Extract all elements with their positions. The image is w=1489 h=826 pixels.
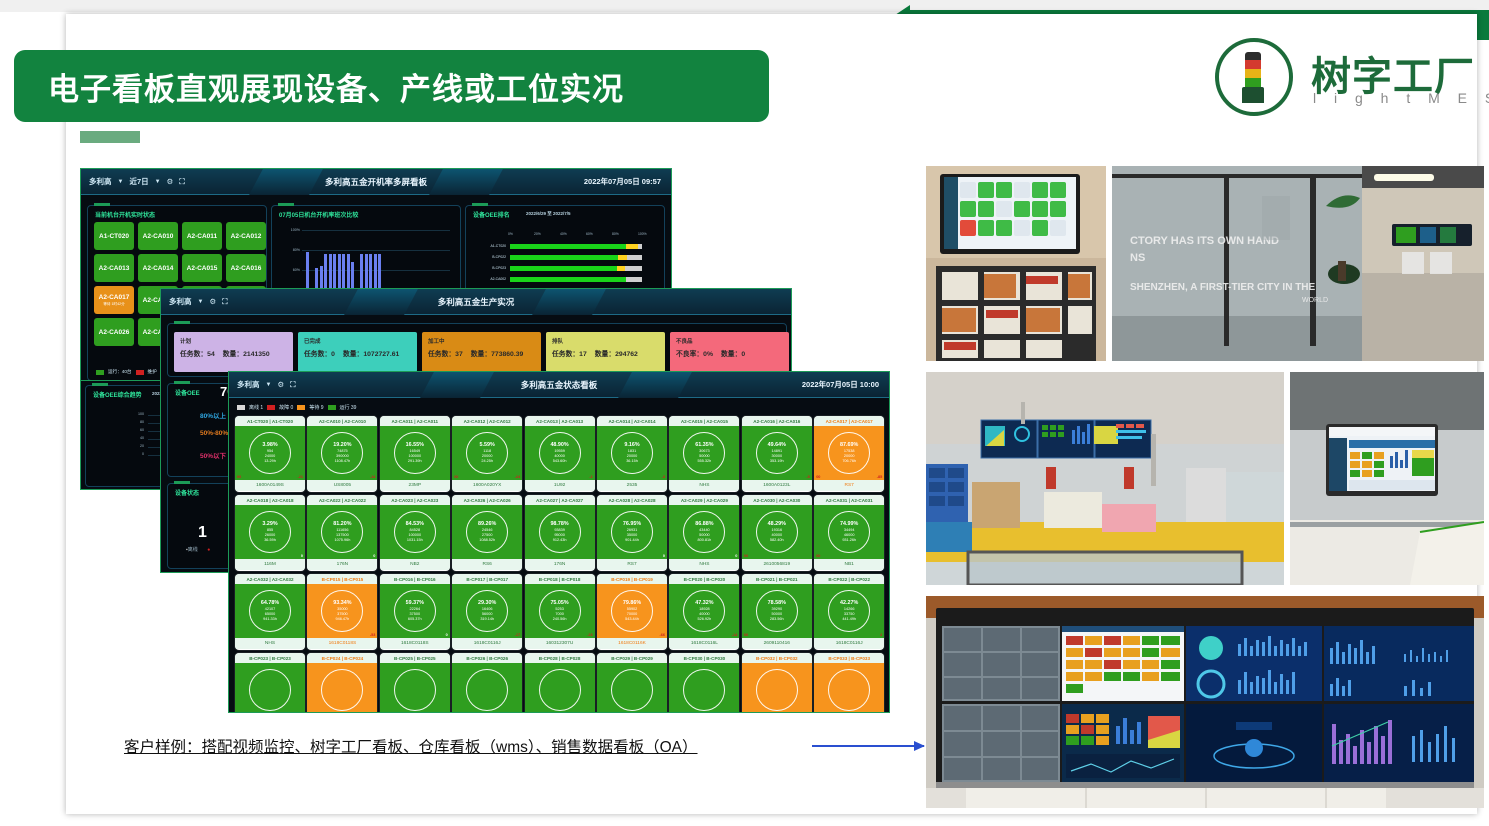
chevron-down-icon[interactable]: ▼ bbox=[118, 179, 124, 185]
status-card-badge-left: 00 bbox=[816, 475, 820, 479]
machine-tile[interactable]: A2-CA015 bbox=[182, 254, 222, 282]
status-card-header: B-CP021 | B-CP021 bbox=[742, 574, 812, 584]
status-card-percent: 48.90% bbox=[550, 442, 568, 449]
status-card-body bbox=[307, 663, 377, 713]
progress-ring: 76.95% 26931 35000 901.44h bbox=[611, 511, 653, 553]
y-tick-label: 40 bbox=[130, 436, 144, 440]
status-card[interactable]: A1-CT020 | A1-CT020 3.98% 954 24000 13.2… bbox=[235, 416, 305, 492]
status-card[interactable]: B-CP032 | B-CP032 bbox=[742, 653, 812, 713]
machine-tile[interactable]: A2-CA013 bbox=[94, 254, 134, 282]
status-card-badge-right: -17 bbox=[515, 633, 521, 637]
status-card[interactable]: A2-CA012 | A2-CA012 5.59% 1118 20000 24.… bbox=[452, 416, 522, 492]
photo-office-wall-display bbox=[926, 166, 1106, 361]
status-card-header: A2-CA014 | A2-CA014 bbox=[597, 416, 667, 426]
machine-tile[interactable]: A2-CA016 bbox=[226, 254, 266, 282]
status-card-body bbox=[235, 663, 305, 713]
status-card-body bbox=[669, 663, 739, 713]
status-card-body: 86.88% 43440 50000 800.81h 0 bbox=[669, 505, 739, 559]
ranking-row-label: A1-CT020 bbox=[468, 244, 506, 248]
status-card-percent: 84.53% bbox=[406, 521, 424, 528]
status-card-badge-right: -85 bbox=[877, 475, 883, 479]
caption-arrow-icon bbox=[812, 745, 924, 747]
status-card-body: 76.95% 26931 35000 901.44h 0 bbox=[597, 505, 667, 559]
ranking-row-bar bbox=[510, 266, 642, 271]
status-card-percent: 61.35% bbox=[695, 442, 713, 449]
dashboard-header: 多利高 ▼ ⚙ ⛶ 多利高五金生产实况 bbox=[161, 289, 791, 315]
svg-text:CTORY HAS ITS OWN HAND: CTORY HAS ITS OWN HAND bbox=[1130, 235, 1279, 247]
ranking-bar-green bbox=[510, 255, 618, 260]
slide-root: 电子看板直观展现设备、产线或工位实况 树字工厂 l i g h t M E S … bbox=[0, 0, 1489, 826]
status-card-body: 79.86% 55902 70000 543.44h -66 bbox=[597, 584, 667, 638]
status-card-hours: 582.40h bbox=[770, 538, 784, 543]
status-card-badge-right: -66 bbox=[660, 633, 666, 637]
gridline bbox=[302, 230, 450, 231]
status-card-header: A2-CA023 | A2-CA023 bbox=[380, 495, 450, 505]
status-card-header: B-CP033 | B-CP033 bbox=[814, 653, 884, 663]
kpi-line-2: 数量：773860.39 bbox=[471, 348, 524, 358]
progress-ring: 86.88% 43440 50000 800.81h bbox=[683, 511, 725, 553]
status-card[interactable]: B-CP017 | B-CP017 29.30% 16406 56000 319… bbox=[452, 574, 522, 650]
status-card[interactable]: B-CP029 | B-CP029 bbox=[597, 653, 667, 713]
axis-tick-label: 40% bbox=[560, 232, 567, 236]
status-card-hours: 441.49h bbox=[842, 617, 856, 622]
status-card[interactable]: A2-CA011 | A2-CA011 16.55% 16549 100000 … bbox=[380, 416, 450, 492]
status-card-percent: 93.34% bbox=[333, 600, 351, 607]
kpi-line-2: 数量：294762 bbox=[595, 348, 638, 358]
status-card-footer: 1600A0123L bbox=[742, 480, 812, 491]
kpi-line-1: 任务数：0 bbox=[304, 348, 335, 358]
status-card-percent: 59.37% bbox=[406, 600, 424, 607]
dashboard-datetime: 2022年07月05日 09:57 bbox=[584, 176, 671, 187]
gear-icon[interactable]: ⚙ bbox=[277, 380, 284, 389]
status-card-header: B-CP018 | B-CP018 bbox=[525, 574, 595, 584]
ranking-row-bar bbox=[510, 255, 642, 260]
status-card[interactable]: A2-CA013 | A2-CA013 48.90% 19559 40000 5… bbox=[525, 416, 595, 492]
status-card-header: B-CP016 | B-CP016 bbox=[380, 574, 450, 584]
status-card[interactable]: A2-CA010 | A2-CA010 19.20% 74875 390000 … bbox=[307, 416, 377, 492]
status-card-body: 48.90% 19559 40000 543.60h -2 bbox=[525, 426, 595, 480]
machine-tile[interactable]: A2-CA010 bbox=[138, 222, 178, 250]
status-card-hours: 555.32h bbox=[698, 459, 712, 464]
status-card-header: A2-CA010 | A2-CA010 bbox=[307, 416, 377, 426]
progress-ring: 3.98% 954 24000 13.29h bbox=[249, 432, 291, 474]
progress-ring: 59.37% 22264 37500 605.37h bbox=[394, 590, 436, 632]
status-card-badge-left: 00 bbox=[744, 554, 748, 558]
progress-ring: 19.20% 74875 390000 1108.47h bbox=[321, 432, 363, 474]
status-card-badge-left: 00 bbox=[454, 475, 458, 479]
status-card-hours: 901.44h bbox=[625, 538, 639, 543]
photo-workshop-wall-monitor bbox=[1290, 372, 1484, 585]
status-card[interactable]: A2-CA015 | A2-CA015 61.35% 30673 50000 5… bbox=[669, 416, 739, 492]
progress-ring bbox=[611, 669, 653, 711]
status-card-body: 84.53% 84528 100000 1031.15h bbox=[380, 505, 450, 559]
ranking-bar-yellow bbox=[626, 244, 638, 249]
brand-logo: 树字工厂 l i g h t M E S bbox=[1215, 38, 1465, 118]
status-card-header: B-CP029 | B-CP029 bbox=[597, 653, 667, 663]
panel-tick bbox=[174, 481, 190, 484]
status-card-hours: 13.29h bbox=[264, 459, 276, 464]
dashboard-datetime: 2022年07月05日 10:00 bbox=[802, 379, 889, 390]
status-card-footer: RS7 bbox=[597, 559, 667, 570]
progress-ring: 74.99% 34494 46000 931.26h bbox=[828, 511, 870, 553]
panel-tick bbox=[472, 203, 488, 206]
status-card-header: A2-CA028 | A2-CA028 bbox=[597, 495, 667, 505]
status-card[interactable]: B-CP018 | B-CP018 75.05% 5253 7000 240.5… bbox=[525, 574, 595, 650]
y-tick-label: 0 bbox=[130, 452, 144, 456]
fullscreen-icon[interactable]: ⛶ bbox=[179, 177, 184, 187]
status-card[interactable]: A2-CA014 | A2-CA014 9.16% 1831 20000 36.… bbox=[597, 416, 667, 492]
progress-ring bbox=[756, 669, 798, 711]
status-card[interactable]: A2-CA029 | A2-CA029 86.88% 43440 50000 8… bbox=[669, 495, 739, 571]
status-card[interactable]: B-CP030 | B-CP030 bbox=[669, 653, 739, 713]
status-legend: 离线 1 故障 0 等待 9 运行 39 bbox=[237, 404, 356, 411]
kpi-title: 不良品 bbox=[676, 337, 783, 345]
status-card-header: A2-CA026 | A2-CA026 bbox=[452, 495, 522, 505]
y-tick-label: 20 bbox=[130, 444, 144, 448]
progress-ring: 47.32% 18928 40000 526.92h bbox=[683, 590, 725, 632]
kpi-card[interactable]: 不良品 不良率：0%数量：0 bbox=[670, 332, 789, 372]
status-card-body bbox=[814, 663, 884, 713]
axis-tick-label: 80% bbox=[612, 232, 619, 236]
status-card[interactable]: B-CP015 | B-CP015 93.34% 35000 37500 946… bbox=[307, 574, 377, 650]
status-card-body: 29.30% 16406 56000 319.14h -17 bbox=[452, 584, 522, 638]
status-card-header: A2-CA018 | A2-CA018 bbox=[235, 495, 305, 505]
ranking-bar-green bbox=[510, 266, 617, 271]
progress-ring: 93.34% 35000 37500 946.47h bbox=[321, 590, 363, 632]
status-card-hours: 912.43h bbox=[553, 538, 567, 543]
status-card-header: B-CP032 | B-CP032 bbox=[742, 653, 812, 663]
machine-tile[interactable]: A2-CA014 bbox=[138, 254, 178, 282]
page-title-text: 电子看板直观展现设备、产线或工位实况 bbox=[48, 64, 624, 109]
status-card-percent: 5.59% bbox=[480, 442, 495, 449]
status-card-body bbox=[380, 663, 450, 713]
status-card-badge-left: 00 bbox=[816, 554, 820, 558]
status-card[interactable]: A2-CA026 | A2-CA026 89.26% 24546 27500 1… bbox=[452, 495, 522, 571]
company-selector[interactable]: 多利高 bbox=[237, 379, 260, 390]
panel-title: 设备OEE综合趋势 bbox=[93, 390, 142, 399]
kpi-card[interactable]: 加工中 任务数：37数量：773860.39 bbox=[422, 332, 541, 372]
status-card-percent: 86.88% bbox=[695, 521, 713, 528]
status-card[interactable]: B-CP028 | B-CP028 bbox=[525, 653, 595, 713]
status-card-footer: 2609110416 bbox=[742, 638, 812, 649]
kpi-line-2: 数量：1072727.61 bbox=[343, 348, 399, 358]
kpi-line-1: 不良率：0% bbox=[676, 348, 713, 358]
progress-ring: 16.55% 16549 100000 291.39h bbox=[394, 432, 436, 474]
status-card[interactable]: A2-CA030 | A2-CA030 48.29% 19316 40000 5… bbox=[742, 495, 812, 571]
status-card-header: B-CP022 | B-CP022 bbox=[814, 574, 884, 584]
panel-kpi-row: 计划 任务数：54数量：2141350已完成 任务数：0数量：1072727.6… bbox=[167, 323, 787, 377]
page-title: 电子看板直观展现设备、产线或工位实况 bbox=[14, 50, 769, 122]
status-card-hours: 353.19h bbox=[770, 459, 784, 464]
machine-tile[interactable]: A1-CT020 bbox=[94, 222, 134, 250]
status-card[interactable]: A2-CA022 | A2-CA022 81.20% 111656 137500… bbox=[307, 495, 377, 571]
fullscreen-icon[interactable]: ⛶ bbox=[222, 297, 227, 307]
status-card[interactable]: B-CP026 | B-CP026 bbox=[452, 653, 522, 713]
status-card-percent: 89.26% bbox=[478, 521, 496, 528]
ranking-row-bar bbox=[510, 277, 642, 282]
kpi-card[interactable]: 计划 任务数：54数量：2141350 bbox=[174, 332, 293, 372]
company-selector[interactable]: 多利高 bbox=[169, 296, 192, 307]
progress-ring: 98.78% 93839 95000 912.43h bbox=[539, 511, 581, 553]
progress-ring bbox=[321, 669, 363, 711]
progress-ring: 64.78% 42107 65000 941.33h bbox=[249, 590, 291, 632]
status-card-hours: 319.14h bbox=[480, 617, 494, 622]
status-card-footer: 2535 bbox=[597, 480, 667, 491]
machine-tile[interactable]: A2-CA011 bbox=[182, 222, 222, 250]
status-card-badge-left: 00 bbox=[237, 475, 241, 479]
status-card-body bbox=[742, 663, 812, 713]
status-card[interactable]: A2-CA031 | A2-CA031 74.99% 34494 46000 9… bbox=[814, 495, 884, 571]
status-card-badge-right: -3 bbox=[662, 475, 665, 479]
status-card-body: 59.37% 22264 37500 605.37h 0 bbox=[380, 584, 450, 638]
status-card[interactable]: A2-CA028 | A2-CA028 76.95% 26931 35000 9… bbox=[597, 495, 667, 571]
status-card-header: A1-CT020 | A1-CT020 bbox=[235, 416, 305, 426]
status-card-body: 5.59% 1118 20000 24.25h 00 -24 bbox=[452, 426, 522, 480]
photo-svg bbox=[1290, 372, 1484, 585]
status-card[interactable]: B-CP023 | B-CP023 bbox=[235, 653, 305, 713]
status-card[interactable]: A2-CA018 | A2-CA018 3.29% 855 26000 36.5… bbox=[235, 495, 305, 571]
panel-tick bbox=[94, 203, 110, 206]
machine-legend: 运行：40台 维护 bbox=[96, 369, 157, 375]
status-card[interactable]: B-CP025 | B-CP025 bbox=[380, 653, 450, 713]
svg-text:NS: NS bbox=[1130, 252, 1145, 264]
status-card-header: A2-CA015 | A2-CA015 bbox=[669, 416, 739, 426]
status-card-percent: 3.29% bbox=[262, 521, 277, 528]
status-card-footer: 160312307U bbox=[525, 638, 595, 649]
status-card[interactable]: A2-CA027 | A2-CA027 98.78% 93839 95000 9… bbox=[525, 495, 595, 571]
photo-workshop-overhead-screens bbox=[926, 372, 1284, 585]
status-card[interactable]: B-CP021 | B-CP021 78.58% 39290 50000 283… bbox=[742, 574, 812, 650]
status-card-header: B-CP026 | B-CP026 bbox=[452, 653, 522, 663]
oee-band-high: 80%以上 bbox=[200, 410, 226, 420]
status-card-footer: 1618C0116L bbox=[669, 638, 739, 649]
status-card[interactable]: B-CP016 | B-CP016 59.37% 22264 37500 605… bbox=[380, 574, 450, 650]
company-selector[interactable]: 多利高 bbox=[89, 176, 112, 187]
header-controls[interactable]: 多利高 ▼ ⚙ ⛶ bbox=[229, 379, 295, 390]
photo-control-room-video-wall bbox=[926, 596, 1484, 808]
dashboard-status-kanban[interactable]: 多利高 ▼ ⚙ ⛶ 多利高五金状态看板 2022年07月05日 10:00 离线… bbox=[228, 371, 890, 713]
chevron-down-icon[interactable]: ▼ bbox=[198, 299, 204, 305]
ranking-bar-yellow bbox=[618, 255, 627, 260]
photo-svg: CTORY HAS ITS OWN HAND NS SHENZHEN, A FI… bbox=[1112, 166, 1484, 361]
status-card-percent: 42.27% bbox=[840, 600, 858, 607]
kpi-line-1: 任务数：37 bbox=[428, 348, 463, 358]
y-tick-label: 80 bbox=[130, 420, 144, 424]
device-state-count: 1 bbox=[198, 524, 207, 542]
status-card-percent: 49.64% bbox=[768, 442, 786, 449]
status-card-badge-right: -2 bbox=[589, 475, 592, 479]
status-card-body: 89.26% 24546 27500 1088.52h bbox=[452, 505, 522, 559]
progress-ring: 79.86% 55902 70000 543.44h bbox=[611, 590, 653, 632]
gear-icon[interactable]: ⚙ bbox=[209, 297, 216, 306]
ranking-row-label: A2-CA002 bbox=[468, 277, 506, 281]
status-card[interactable]: B-CP020 | B-CP020 47.32% 18928 40000 526… bbox=[669, 574, 739, 650]
status-card-percent: 3.98% bbox=[262, 442, 277, 449]
status-card-hours: 543.60h bbox=[553, 459, 567, 464]
status-card-footer: 1618C0116J bbox=[814, 638, 884, 649]
panel-tick bbox=[174, 321, 190, 324]
status-card-footer: RS7 bbox=[814, 480, 884, 491]
fullscreen-icon[interactable]: ⛶ bbox=[290, 380, 295, 390]
status-card-hours: 240.56h bbox=[553, 617, 567, 622]
status-card-percent: 64.78% bbox=[261, 600, 279, 607]
status-card[interactable]: A2-CA017 | A2-CA017 87.69% 17538 20000 7… bbox=[814, 416, 884, 492]
status-card-body bbox=[452, 663, 522, 713]
axis-tick-label: 60% bbox=[586, 232, 593, 236]
kpi-title: 已完成 bbox=[304, 337, 411, 345]
dashboard-header: 多利高 ▼ 近7日 ▼ ⚙ ⛶ 多利高五金开机率多屏看板 2022年07月05日… bbox=[81, 169, 671, 195]
progress-ring: 61.35% 30673 50000 555.32h bbox=[683, 432, 725, 474]
axis-tick-label: 20% bbox=[534, 232, 541, 236]
kpi-title: 加工中 bbox=[428, 337, 535, 345]
panel-tick bbox=[92, 383, 108, 386]
gear-icon[interactable]: ⚙ bbox=[167, 177, 174, 186]
status-card-badge-right: -24 bbox=[515, 475, 521, 479]
status-card-header: A2-CA029 | A2-CA029 bbox=[669, 495, 739, 505]
status-card-percent: 19.20% bbox=[333, 442, 351, 449]
ranking-bar-green bbox=[510, 244, 626, 249]
progress-ring: 75.05% 5253 7000 240.56h bbox=[539, 590, 581, 632]
status-card-footer: 116M bbox=[235, 559, 305, 570]
chevron-down-icon[interactable]: ▼ bbox=[155, 179, 161, 185]
kpi-card[interactable]: 已完成 任务数：0数量：1072727.61 bbox=[298, 332, 417, 372]
ranking-bar-yellow bbox=[617, 266, 625, 271]
status-card-footer: 1618C0116K bbox=[597, 638, 667, 649]
status-card-header: B-CP015 | B-CP015 bbox=[307, 574, 377, 584]
dashboard-title: 多利高五金生产实况 bbox=[161, 296, 791, 308]
photo-svg bbox=[926, 372, 1284, 585]
status-card[interactable]: A2-CA032 | A2-CA032 64.78% 42107 65000 9… bbox=[235, 574, 305, 650]
accent-tab bbox=[80, 131, 140, 143]
axis-tick-label: 0% bbox=[508, 232, 513, 236]
progress-ring bbox=[249, 669, 291, 711]
status-card[interactable]: B-CP019 | B-CP019 79.86% 55902 70000 543… bbox=[597, 574, 667, 650]
status-card-header: A2-CA031 | A2-CA031 bbox=[814, 495, 884, 505]
status-card-body: 19.20% 74875 390000 1108.47h -14 bbox=[307, 426, 377, 480]
progress-ring: 3.29% 855 26000 36.59h bbox=[249, 511, 291, 553]
y-tick-label: 100% bbox=[278, 228, 300, 232]
status-card-footer: 1618C0116J bbox=[452, 638, 522, 649]
progress-ring: 49.64% 14891 30000 353.19h bbox=[756, 432, 798, 474]
status-card-percent: 75.05% bbox=[550, 600, 568, 607]
status-card-badge-right: -14 bbox=[732, 633, 738, 637]
chevron-down-icon[interactable]: ▼ bbox=[266, 382, 272, 388]
status-card-header: A2-CA016 | A2-CA016 bbox=[742, 416, 812, 426]
progress-ring: 42.27% 14266 33750 441.49h bbox=[828, 590, 870, 632]
status-card-percent: 76.95% bbox=[623, 521, 641, 528]
kpi-line-1: 任务数：54 bbox=[180, 348, 215, 358]
status-card-percent: 48.29% bbox=[768, 521, 786, 528]
status-card-badge-right: -5 bbox=[806, 475, 809, 479]
photo-lobby-glass-facade: CTORY HAS ITS OWN HAND NS SHENZHEN, A FI… bbox=[1112, 166, 1484, 361]
status-card-percent: 87.69% bbox=[840, 442, 858, 449]
machine-tile[interactable]: A2-CA026 bbox=[94, 318, 134, 346]
progress-ring: 5.59% 1118 20000 24.25h bbox=[466, 432, 508, 474]
kpi-card[interactable]: 排队 任务数：17数量：294762 bbox=[546, 332, 665, 372]
status-card-body bbox=[525, 663, 595, 713]
status-card-percent: 47.32% bbox=[695, 600, 713, 607]
status-card-badge-right: 0 bbox=[446, 633, 448, 637]
header-controls[interactable]: 多利高 ▼ 近7日 ▼ ⚙ ⛶ bbox=[81, 176, 185, 187]
progress-ring bbox=[539, 669, 581, 711]
status-card-body: 61.35% 30673 50000 555.32h bbox=[669, 426, 739, 480]
progress-ring: 81.20% 111656 137500 1075.96h bbox=[321, 511, 363, 553]
status-card-header: A2-CA022 | A2-CA022 bbox=[307, 495, 377, 505]
status-card-hours: 946.47h bbox=[336, 617, 350, 622]
status-card-footer: 1600A0149S bbox=[235, 480, 305, 491]
device-state-label: ▪离线 ● bbox=[186, 546, 210, 553]
status-card-body bbox=[597, 663, 667, 713]
ranking-bar-green bbox=[510, 277, 626, 282]
progress-ring bbox=[683, 669, 725, 711]
panel-title: 设备OEE bbox=[175, 388, 200, 397]
status-card-percent: 81.20% bbox=[333, 521, 351, 528]
panel-tick bbox=[174, 381, 190, 384]
progress-ring bbox=[828, 669, 870, 711]
status-card-percent: 16.55% bbox=[406, 442, 424, 449]
status-card-badge-right: 0 bbox=[373, 554, 375, 558]
status-card[interactable]: B-CP022 | B-CP022 42.27% 14266 33750 441… bbox=[814, 574, 884, 650]
y-tick-label: 60 bbox=[130, 428, 144, 432]
status-card[interactable]: A2-CA016 | A2-CA016 49.64% 14891 30000 3… bbox=[742, 416, 812, 492]
status-card-hours: 1031.15h bbox=[407, 538, 423, 543]
progress-ring: 48.90% 19559 40000 543.60h bbox=[539, 432, 581, 474]
status-card-body: 87.69% 17538 20000 706.76h 00 -85 bbox=[814, 426, 884, 480]
status-card-hours: 283.56h bbox=[770, 617, 784, 622]
status-card-header: B-CP024 | B-CP024 bbox=[307, 653, 377, 663]
range-selector[interactable]: 近7日 bbox=[129, 176, 148, 187]
status-card-hours: 941.33h bbox=[263, 617, 277, 622]
status-card-header: B-CP019 | B-CP019 bbox=[597, 574, 667, 584]
svg-text:WORLD: WORLD bbox=[1302, 297, 1328, 304]
progress-ring bbox=[466, 669, 508, 711]
status-card-body: 98.78% 93839 95000 912.43h bbox=[525, 505, 595, 559]
status-card-footer: NB2 bbox=[380, 559, 450, 570]
status-card-footer: US8005 bbox=[307, 480, 377, 491]
status-card-footer: 176N bbox=[525, 559, 595, 570]
machine-tile[interactable]: A2-CA017等待 1时42分 bbox=[94, 286, 134, 314]
dashboard-title: 多利高五金状态看板 bbox=[229, 379, 889, 391]
status-card-header: A2-CA012 | A2-CA012 bbox=[452, 416, 522, 426]
status-card[interactable]: B-CP024 | B-CP024 bbox=[307, 653, 377, 713]
status-card-header: A2-CA013 | A2-CA013 bbox=[525, 416, 595, 426]
y-tick-label: 60% bbox=[278, 268, 300, 272]
status-card-body: 74.99% 34494 46000 931.26h 00 bbox=[814, 505, 884, 559]
status-card-hours: 1075.96h bbox=[334, 538, 350, 543]
header-controls[interactable]: 多利高 ▼ ⚙ ⛶ bbox=[161, 296, 227, 307]
status-card-footer: 1618C0118S bbox=[307, 638, 377, 649]
status-card-footer: RS6 bbox=[452, 559, 522, 570]
status-card-header: B-CP030 | B-CP030 bbox=[669, 653, 739, 663]
status-card-badge-right: 0 bbox=[735, 554, 737, 558]
status-card-footer: 2610056819 bbox=[742, 559, 812, 570]
status-card-hours: 1088.52h bbox=[479, 538, 495, 543]
photo-svg bbox=[926, 596, 1484, 808]
machine-tile[interactable]: A2-CA012 bbox=[226, 222, 266, 250]
status-card-body: 64.78% 42107 65000 941.33h bbox=[235, 584, 305, 638]
status-card-header: B-CP025 | B-CP025 bbox=[380, 653, 450, 663]
status-card-hours: 800.81h bbox=[698, 538, 712, 543]
status-card-badge-right: -53 bbox=[370, 633, 376, 637]
status-card-header: A2-CA011 | A2-CA011 bbox=[380, 416, 450, 426]
status-card-footer: 1U92 bbox=[525, 480, 595, 491]
status-card-body: 75.05% 5253 7000 240.56h -23 bbox=[525, 584, 595, 638]
status-card[interactable]: B-CP033 | B-CP033 bbox=[814, 653, 884, 713]
status-card-badge-right: 0 bbox=[301, 554, 303, 558]
status-card-hours: 36.59h bbox=[264, 538, 276, 543]
progress-ring bbox=[394, 669, 436, 711]
status-card[interactable]: A2-CA023 | A2-CA023 84.53% 84528 100000 … bbox=[380, 495, 450, 571]
